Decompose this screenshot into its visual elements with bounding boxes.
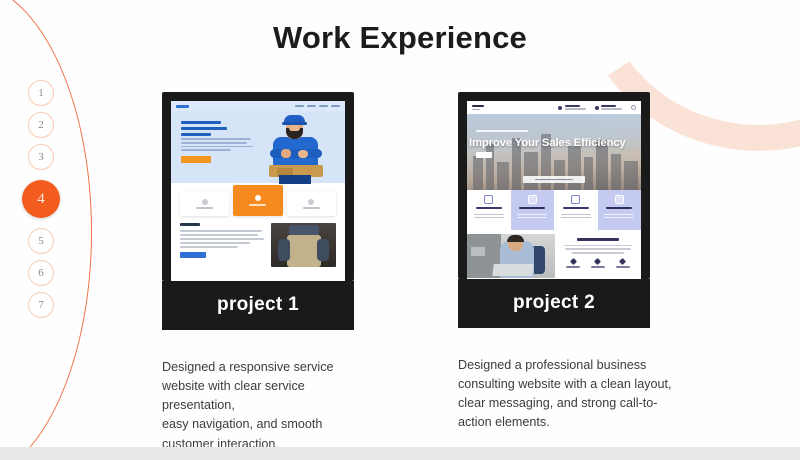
preview2-contact-info [558,105,636,110]
search-icon [631,105,636,110]
preview1-about-text [180,223,264,265]
project-card-list: project 1 Designed a responsive service … [162,92,650,454]
project-card-1[interactable]: project 1 Designed a responsive service … [162,92,354,454]
preview2-feature-1-icon [484,195,493,204]
preview2-feature-2-text [517,212,547,218]
preview2-logo-icon [472,105,484,111]
preview1-hero [171,111,345,183]
preview2-feature-1-label [476,207,502,209]
preview1-nav-links [295,105,340,107]
preview2-feature-3-icon [571,195,580,204]
preview2-feature-2-icon [528,195,537,204]
preview2-feature-1-text [474,212,504,218]
preview2-feature-cards [467,190,641,230]
preview1-feature-1-label [196,207,213,209]
preview1-navbar [171,101,345,111]
preview2-feature-card-1 [467,190,511,230]
preview2-stat-vision [566,259,580,268]
preview1-feature-card-1 [180,192,229,216]
preview1-about-heading [180,223,200,226]
pager-item-6[interactable]: 6 [28,260,54,286]
project-1-label: project 1 [162,281,354,330]
preview2-about-photo [467,234,555,278]
preview1-feature-cards [180,185,336,216]
pager-item-7[interactable]: 7 [28,292,54,318]
preview2-about-section [467,230,641,279]
preview2-feature-card-2 [511,190,555,230]
preview2-feature-3-label [563,207,589,209]
bottom-band [0,447,800,460]
preview2-feature-3-text [561,212,591,218]
preview2-about-stats [561,259,635,268]
preview2-about-heading [577,238,619,241]
preview1-feature-3-icon [308,199,314,205]
project-1-preview [171,101,345,281]
preview2-feature-4-text [604,212,634,218]
slide-pager: 1 2 3 4 5 6 7 [24,80,58,318]
preview1-worker-illustration [265,113,327,183]
preview2-hero-pill [523,176,585,183]
preview1-about-photo [271,223,336,267]
preview2-stat-goals [616,259,630,268]
preview2-navbar [467,101,641,114]
pager-item-5[interactable]: 5 [28,228,54,254]
preview2-contact-mail [595,105,623,110]
pager-item-3[interactable]: 3 [28,144,54,170]
preview1-about-button [180,252,206,258]
pager-item-1[interactable]: 1 [28,80,54,106]
preview2-feature-card-3 [554,190,598,230]
preview1-feature-3-label [303,207,320,209]
preview2-feature-4-label [606,207,632,209]
project-1-frame [162,92,354,281]
preview2-hero-kicker [476,130,528,132]
preview2-about-paragraph [561,245,635,254]
preview2-feature-card-4 [598,190,642,230]
pager-item-2[interactable]: 2 [28,112,54,138]
project-1-caption: Designed a responsive service website wi… [162,358,354,454]
preview1-feature-card-2-highlighted [233,185,282,216]
preview2-hero-button [476,152,492,158]
preview2-hero-headline: Improve Your Sales Efficiency [469,137,625,149]
project-2-frame: Improve Your Sales Efficiency [458,92,650,279]
preview1-logo-icon [176,105,189,108]
project-2-caption: Designed a professional business consult… [458,356,698,433]
project-2-label: project 2 [458,279,650,328]
page-title: Work Experience [0,20,800,56]
slide-root: Work Experience 1 2 3 4 5 6 7 [0,0,800,460]
location-pin-icon [558,106,562,110]
preview1-feature-2-icon [255,195,261,201]
mail-icon [595,106,599,110]
preview2-feature-2-label [519,207,545,209]
preview2-stat-mission [591,259,605,268]
preview1-feature-card-3 [287,192,336,216]
preview2-feature-4-icon [615,195,624,204]
preview2-contact-address [558,105,586,110]
project-2-preview: Improve Your Sales Efficiency [467,101,641,279]
pager-item-4-active[interactable]: 4 [22,180,60,218]
preview1-feature-2-label [249,204,266,206]
preview1-hero-cta [181,156,211,163]
preview2-hero: Improve Your Sales Efficiency [467,114,641,190]
project-card-2[interactable]: Improve Your Sales Efficiency [458,92,650,454]
preview1-feature-1-icon [202,199,208,205]
preview2-about-text [561,234,635,279]
